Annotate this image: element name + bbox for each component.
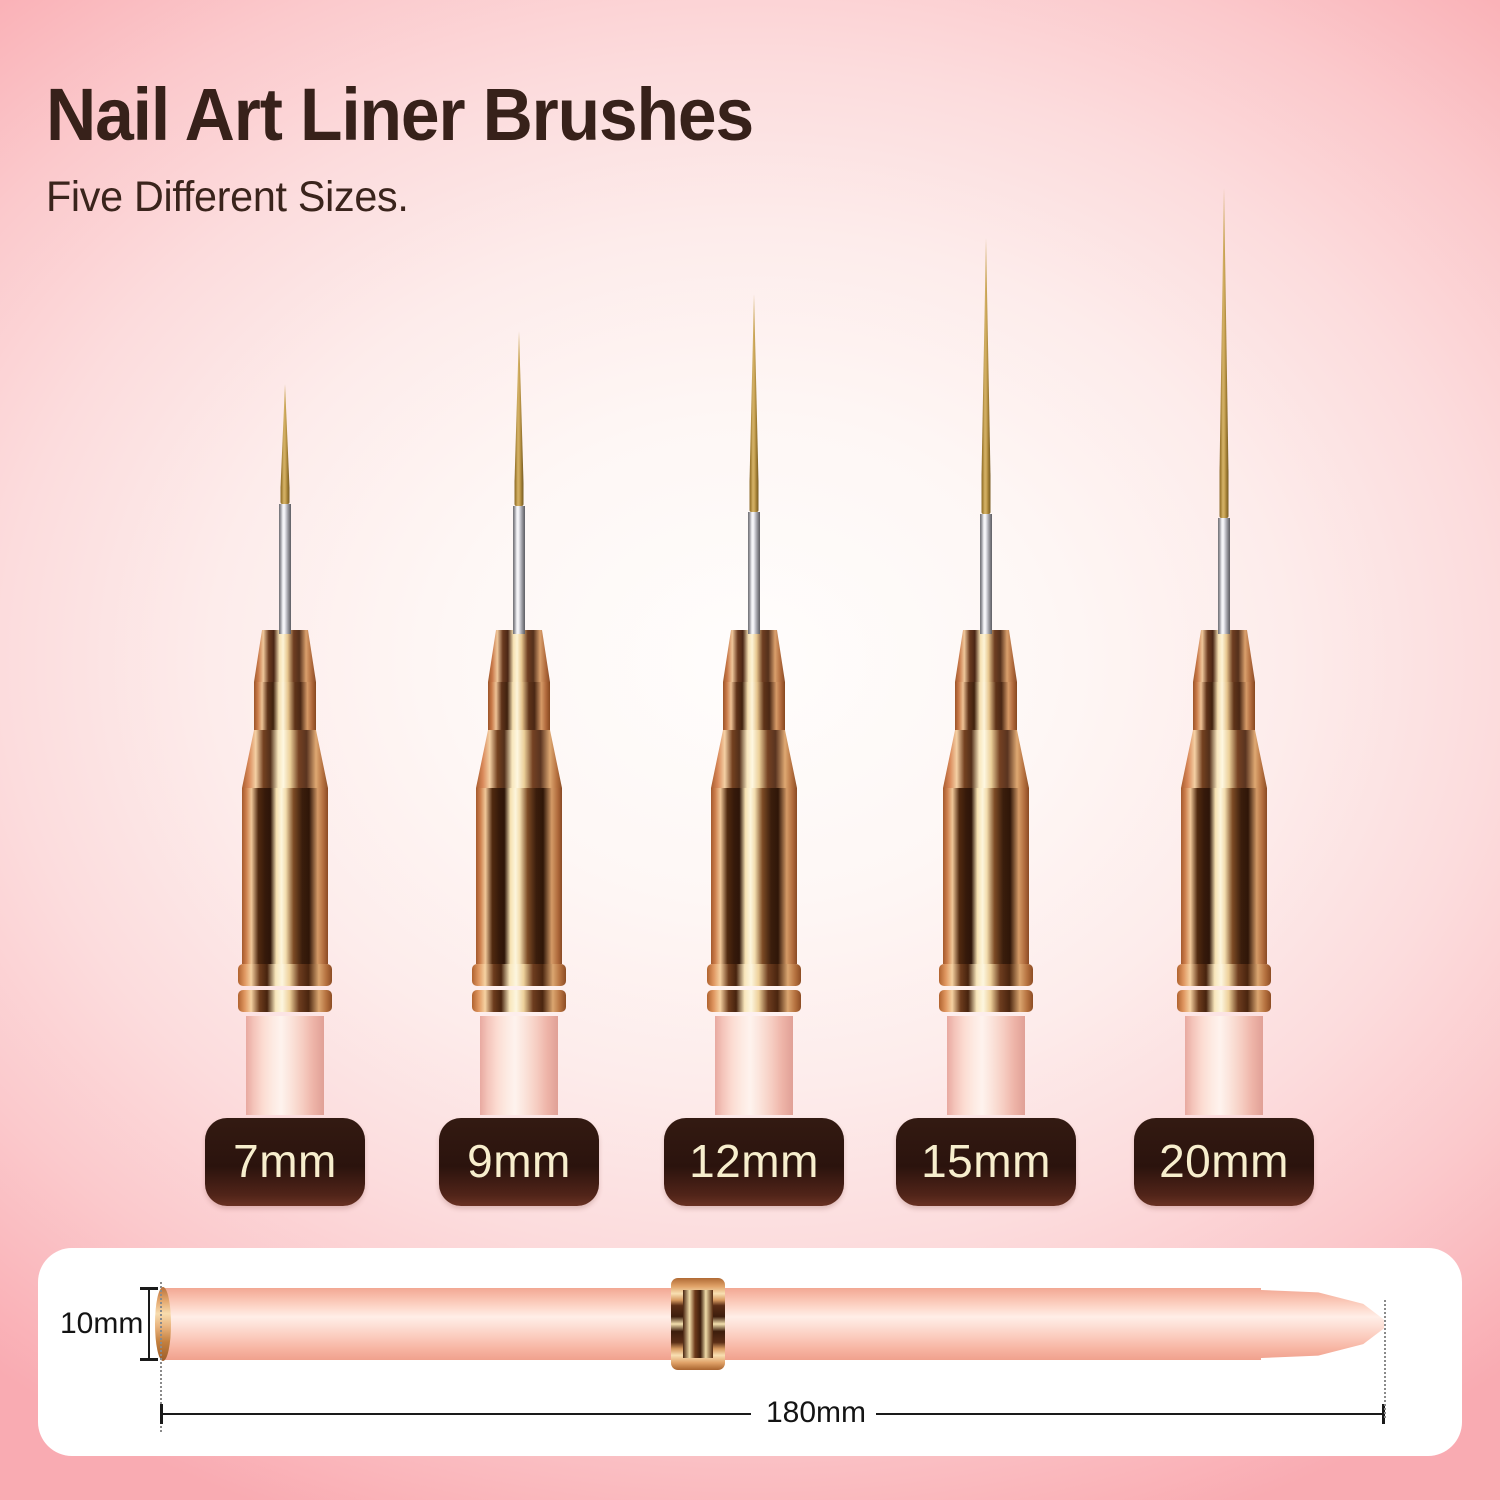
brush-ferrule-segment [476,730,562,788]
brush-metal-shaft [980,514,992,634]
brush-ferrule-segment [254,630,316,682]
length-extension-line-right [1384,1300,1386,1418]
brush-ferrule-segment [711,788,797,964]
handle-tapered-tip [1211,1288,1384,1360]
height-dimension-label: 10mm [60,1309,143,1339]
brush-ferrule-segment [711,730,797,788]
length-dimension-line-left [161,1413,751,1415]
height-dimension-cap-top [140,1287,158,1290]
brush-handle-stub [947,1016,1025,1115]
brush-bristle-tip [750,294,759,512]
brush-ferrule-segment [1193,630,1255,682]
size-label-15mm[interactable]: 15mm [896,1118,1076,1206]
brush-handle-stub [715,1016,793,1115]
height-dimension-cap-bottom [140,1358,158,1361]
brush-collar-ring [238,990,332,1012]
brush-ferrule-segment [1181,788,1267,964]
brush-collar-ring [472,964,566,986]
brush-handle-diagram [161,1288,1384,1360]
brush-ferrule-segment [723,682,785,730]
brush-ferrule-segment [943,788,1029,964]
brush-ferrule-segment [955,630,1017,682]
length-dimension-label: 180mm [756,1398,876,1428]
length-dimension-cap-left [160,1404,163,1424]
size-label-9mm[interactable]: 9mm [439,1118,599,1206]
brush-collar-ring [238,964,332,986]
brush-collar-ring [939,990,1033,1012]
brush-metal-shaft [1218,518,1230,634]
length-dimension-line-right [876,1413,1384,1415]
brush-collar-ring [707,990,801,1012]
handle-center-ring-icon [671,1278,725,1370]
size-label-20mm[interactable]: 20mm [1134,1118,1314,1206]
brush-lineup [0,0,1500,1230]
product-infographic: Nail Art Liner Brushes Five Different Si… [0,0,1500,1500]
handle-end-cap-icon [155,1287,171,1361]
brush-ferrule-segment [1181,730,1267,788]
dimension-card: 10mm 180mm [38,1248,1462,1456]
brush-collar-ring [472,990,566,1012]
brush-ferrule-segment [242,730,328,788]
brush-ferrule-segment [955,682,1017,730]
brush-bristle-tip [1220,188,1229,518]
brush-collar-ring [707,964,801,986]
brush-ferrule-segment [488,682,550,730]
brush-bristle-tip [281,384,290,504]
brush-ferrule-segment [1193,682,1255,730]
brush-ferrule-segment [242,788,328,964]
brush-handle-stub [1185,1016,1263,1115]
brush-metal-shaft [513,506,525,634]
size-label-7mm[interactable]: 7mm [205,1118,365,1206]
brush-collar-ring [1177,990,1271,1012]
brush-metal-shaft [748,512,760,634]
brush-ferrule-segment [476,788,562,964]
brush-handle-stub [246,1016,324,1115]
brush-ferrule-segment [488,630,550,682]
brush-ferrule-segment [254,682,316,730]
brush-bristle-tip [515,331,524,506]
handle-ring-inner [683,1290,713,1358]
size-label-12mm[interactable]: 12mm [664,1118,844,1206]
brush-metal-shaft [279,504,291,634]
brush-ferrule-segment [723,630,785,682]
brush-collar-ring [939,964,1033,986]
brush-collar-ring [1177,964,1271,986]
height-dimension-line [148,1288,150,1360]
brush-bristle-tip [982,238,991,514]
brush-ferrule-segment [943,730,1029,788]
brush-handle-stub [480,1016,558,1115]
